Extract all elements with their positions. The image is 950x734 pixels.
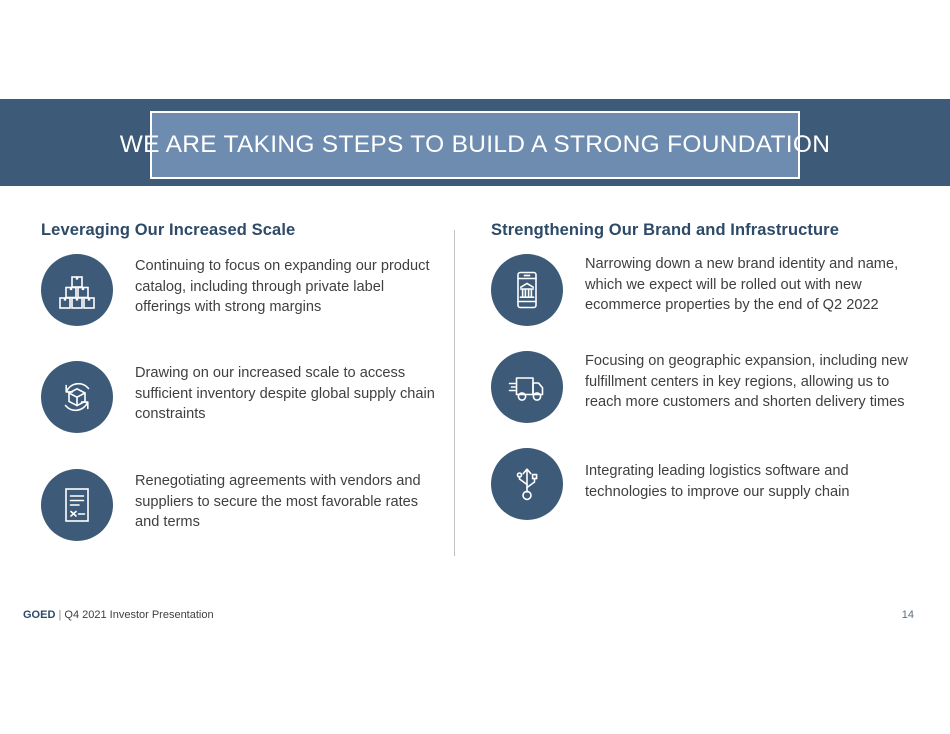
left-column: Leveraging Our Increased Scale (41, 186, 441, 541)
footer-caption: GOED | Q4 2021 Investor Presentation (23, 609, 214, 621)
left-bullet-list: Continuing to focus on expanding our pro… (41, 254, 441, 541)
stacked-boxes-icon (41, 254, 113, 326)
slide-footer: GOED | Q4 2021 Investor Presentation 14 (0, 609, 950, 631)
left-column-heading: Leveraging Our Increased Scale (41, 186, 441, 240)
right-bullet-list: Narrowing down a new brand identity and … (491, 254, 921, 520)
right-column-heading: Strengthening Our Brand and Infrastructu… (491, 186, 921, 240)
list-item: Integrating leading logistics software a… (491, 448, 921, 520)
footer-separator: | (58, 609, 61, 621)
delivery-truck-icon (491, 351, 563, 423)
signed-contract-document-icon (41, 469, 113, 541)
list-item: Narrowing down a new brand identity and … (491, 254, 921, 326)
left-bullet-text-1: Continuing to focus on expanding our pro… (113, 254, 440, 318)
title-box: WE ARE TAKING STEPS TO BUILD A STRONG FO… (150, 111, 800, 179)
footer-brand: GOED (23, 609, 55, 621)
usb-connectivity-icon (491, 448, 563, 520)
smartphone-bank-building-icon (491, 254, 563, 326)
list-item: Continuing to focus on expanding our pro… (41, 254, 441, 326)
slide-title: WE ARE TAKING STEPS TO BUILD A STRONG FO… (120, 131, 831, 159)
left-bullet-text-3: Renegotiating agreements with vendors an… (113, 469, 440, 533)
page-number: 14 (902, 609, 914, 621)
title-banner: WE ARE TAKING STEPS TO BUILD A STRONG FO… (0, 99, 950, 186)
right-column: Strengthening Our Brand and Infrastructu… (491, 186, 921, 520)
list-item: Drawing on our increased scale to access… (41, 361, 441, 433)
right-bullet-text-2: Focusing on geographic expansion, includ… (563, 351, 915, 413)
right-bullet-text-1: Narrowing down a new brand identity and … (563, 254, 915, 316)
right-bullet-text-3: Integrating leading logistics software a… (563, 448, 915, 502)
list-item: Renegotiating agreements with vendors an… (41, 469, 441, 541)
left-bullet-text-2: Drawing on our increased scale to access… (113, 361, 440, 425)
list-item: Focusing on geographic expansion, includ… (491, 351, 921, 423)
footer-presentation-name: Q4 2021 Investor Presentation (64, 609, 213, 621)
box-refresh-cycle-icon (41, 361, 113, 433)
content-columns: Leveraging Our Increased Scale (0, 186, 950, 586)
column-divider (454, 230, 455, 556)
